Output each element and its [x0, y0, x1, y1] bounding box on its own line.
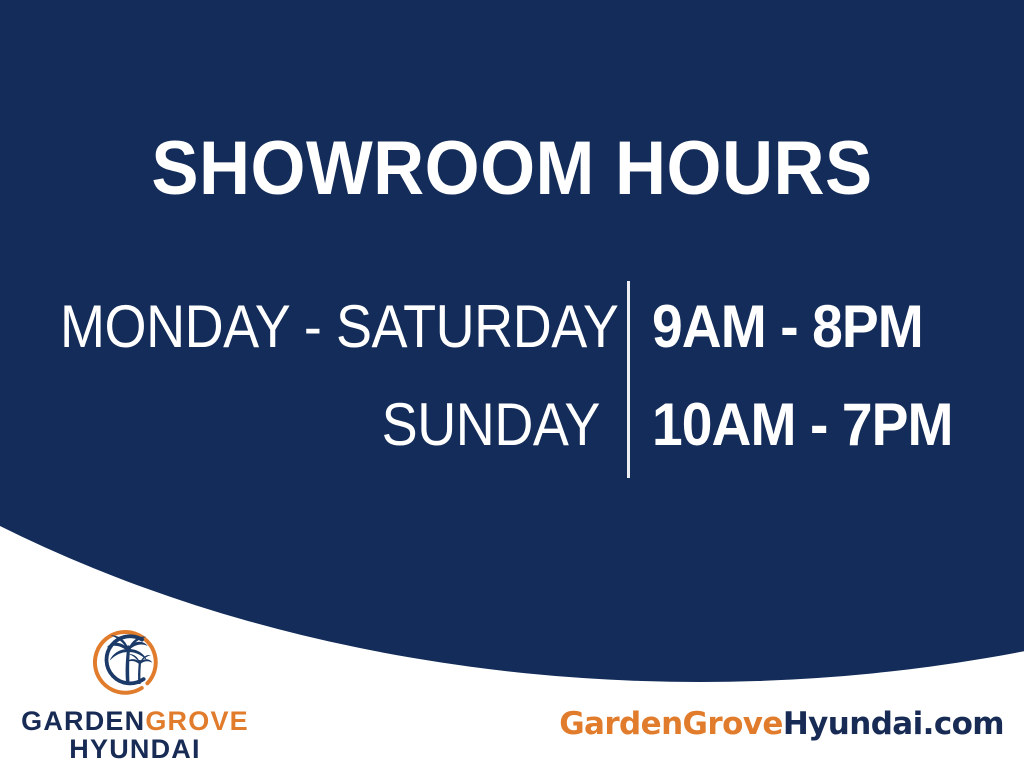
logo-wordmark-line-1: GARDENGROVE [10, 706, 260, 736]
hours-days-label: MONDAY - SATURDAY [60, 297, 600, 357]
hours-time-value: 10AM - 7PM [652, 395, 994, 455]
hours-table: MONDAY - SATURDAY 9AM - 8PM SUNDAY 10AM … [0, 281, 1024, 481]
showroom-hours-poster: SHOWROOM HOURS MONDAY - SATURDAY 9AM - 8… [0, 0, 1024, 768]
website-url-prefix: GardenGrove [559, 706, 783, 742]
logo-word-grove: GROVE [145, 706, 249, 736]
hours-row: SUNDAY 10AM - 7PM [0, 395, 1024, 491]
logo-word-garden: GARDEN [21, 706, 145, 736]
hours-time-value: 9AM - 8PM [652, 297, 994, 357]
website-url[interactable]: GardenGroveHyundai.com [524, 707, 1004, 741]
hours-days-label: SUNDAY [60, 395, 600, 455]
website-url-suffix: Hyundai.com [783, 706, 1004, 742]
hours-row: MONDAY - SATURDAY 9AM - 8PM [0, 297, 1024, 393]
palm-tree-circle-icon [87, 624, 163, 700]
logo-wordmark-line-2: HYUNDAI [10, 734, 260, 764]
dealer-logo: GARDENGROVE HYUNDAI [10, 624, 260, 764]
page-title: SHOWROOM HOURS [36, 131, 988, 207]
